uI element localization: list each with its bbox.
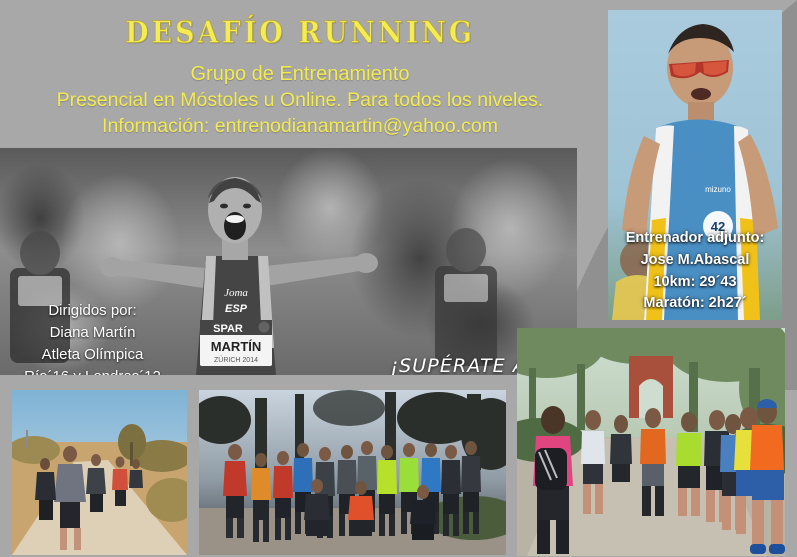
head-coach-info: Dirigidos por: Diana Martín Atleta Olímp… bbox=[0, 300, 185, 375]
subtitle-group: Grupo de Entrenamiento bbox=[0, 45, 600, 88]
poster-canvas: Desafío Running Grupo de Entrenamiento P… bbox=[0, 0, 797, 557]
svg-text:ESP: ESP bbox=[225, 303, 248, 315]
photo-trail-run bbox=[12, 390, 187, 555]
photo-group-portrait bbox=[199, 390, 506, 555]
head-coach-label: Dirigidos por: bbox=[0, 300, 185, 322]
page-title: Desafío Running bbox=[0, 0, 600, 50]
assistant-coach-10km: 10km: 29´43 bbox=[600, 272, 790, 294]
assistant-coach-label: Entrenador adjunto: bbox=[600, 228, 790, 250]
assistant-coach-name: Jose M.Abascal bbox=[600, 250, 790, 272]
head-coach-name: Diana Martín bbox=[0, 322, 185, 344]
header-block: Desafío Running Grupo de Entrenamiento P… bbox=[0, 0, 600, 139]
assistant-coach-marathon: Maratón: 2h27´ bbox=[600, 293, 790, 315]
svg-text:mizuno: mizuno bbox=[705, 185, 731, 194]
svg-text:ZÜRICH 2014: ZÜRICH 2014 bbox=[214, 356, 258, 364]
subtitle-format: Presencial en Móstoles u Online. Para to… bbox=[0, 88, 600, 114]
head-coach-credential: Atleta Olímpica bbox=[0, 344, 185, 366]
subtitle-contact: Información: entrenodianamartin@yahoo.co… bbox=[0, 114, 600, 140]
svg-text:Joma: Joma bbox=[224, 287, 248, 299]
head-coach-games: Río´16 y Londres´12 bbox=[0, 366, 185, 375]
hero-photo-band: Joma ESP SPAR MARTÍN ZÜRICH 2014 Dirigid… bbox=[0, 148, 577, 375]
svg-text:SPAR: SPAR bbox=[213, 323, 243, 335]
assistant-coach-info: Entrenador adjunto: Jose M.Abascal 10km:… bbox=[600, 228, 790, 315]
svg-text:MARTÍN: MARTÍN bbox=[211, 339, 262, 354]
photo-training-session bbox=[517, 328, 785, 556]
